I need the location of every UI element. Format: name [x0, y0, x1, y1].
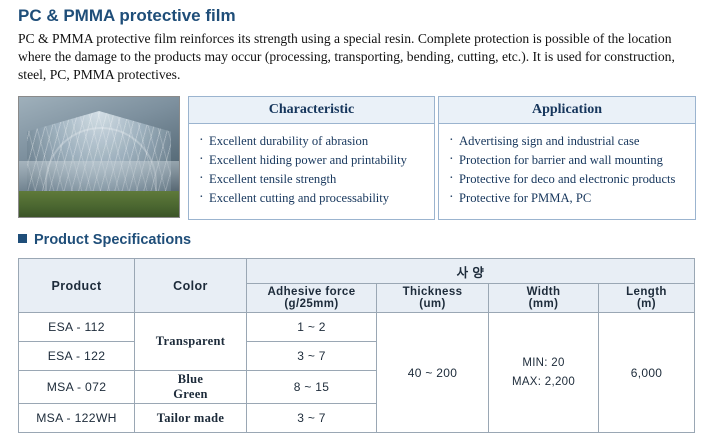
product-photo: [18, 96, 180, 218]
header-adhesive-force-line1: Adhesive force: [248, 286, 375, 298]
table-row: ESA - 112 Transparent 1 ~ 2 40 ~ 200 MIN…: [19, 313, 695, 342]
header-adhesive-force-line2: (g/25mm): [248, 298, 375, 310]
characteristic-header: Characteristic: [189, 97, 434, 124]
application-header: Application: [439, 97, 695, 124]
header-adhesive-force: Adhesive force (g/25mm): [247, 284, 377, 313]
cell-thickness: 40 ~ 200: [377, 313, 489, 433]
cell-adhesive: 1 ~ 2: [247, 313, 377, 342]
header-length-line2: (m): [600, 298, 693, 310]
list-item: Excellent durability of abrasion: [199, 132, 434, 151]
cell-product: ESA - 122: [19, 342, 135, 371]
cell-product: MSA - 122WH: [19, 404, 135, 433]
list-item: Advertising sign and industrial case: [449, 132, 695, 151]
list-item: Excellent hiding power and printability: [199, 151, 434, 170]
header-thickness: Thickness (um): [377, 284, 489, 313]
header-thickness-line1: Thickness: [378, 286, 487, 298]
application-box: Application Advertising sign and industr…: [438, 96, 696, 220]
application-list: Advertising sign and industrial case Pro…: [439, 124, 695, 208]
list-item: Excellent tensile strength: [199, 170, 434, 189]
header-thickness-line2: (um): [378, 298, 487, 310]
cell-product: MSA - 072: [19, 371, 135, 404]
cell-color-transparent: Transparent: [135, 313, 247, 371]
intro-paragraph: PC & PMMA protective film reinforces its…: [18, 30, 694, 84]
page-title: PC & PMMA protective film: [18, 6, 236, 26]
page-root: PC & PMMA protective film PC & PMMA prot…: [0, 0, 710, 446]
photo-grass: [19, 191, 179, 217]
cell-adhesive: 8 ~ 15: [247, 371, 377, 404]
cell-product: ESA - 112: [19, 313, 135, 342]
table-header-row-1: Product Color 사 양: [19, 259, 695, 284]
cell-width: MIN: 20 MAX: 2,200: [489, 313, 599, 433]
product-specifications-table: Product Color 사 양 Adhesive force (g/25mm…: [18, 258, 695, 433]
header-length-line1: Length: [600, 286, 693, 298]
characteristic-box: Characteristic Excellent durability of a…: [188, 96, 435, 220]
header-color: Color: [135, 259, 247, 313]
list-item: Protection for barrier and wall mounting: [449, 151, 695, 170]
cell-color-tailor-made: Tailor made: [135, 404, 247, 433]
list-item: Protective for deco and electronic produ…: [449, 170, 695, 189]
list-item: Excellent cutting and processability: [199, 189, 434, 208]
list-item: Protective for PMMA, PC: [449, 189, 695, 208]
header-spec-group: 사 양: [247, 259, 695, 284]
cell-width-min: MIN: 20: [490, 357, 597, 369]
characteristic-list: Excellent durability of abrasion Excelle…: [189, 124, 434, 208]
cell-width-max: MAX: 2,200: [490, 376, 597, 388]
cell-adhesive: 3 ~ 7: [247, 342, 377, 371]
section-heading-label: Product Specifications: [34, 232, 191, 248]
header-width-line1: Width: [490, 286, 597, 298]
cell-adhesive: 3 ~ 7: [247, 404, 377, 433]
bullet-square-icon: [18, 234, 27, 243]
color-green-label: Green: [173, 387, 208, 401]
header-length: Length (m): [599, 284, 695, 313]
header-width: Width (mm): [489, 284, 599, 313]
color-blue-label: Blue: [178, 372, 204, 386]
section-heading: Product Specifications: [18, 232, 191, 248]
cell-color-blue-green: Blue Green: [135, 371, 247, 404]
header-product: Product: [19, 259, 135, 313]
header-width-line2: (mm): [490, 298, 597, 310]
photo-floor: [19, 161, 179, 195]
cell-length: 6,000: [599, 313, 695, 433]
